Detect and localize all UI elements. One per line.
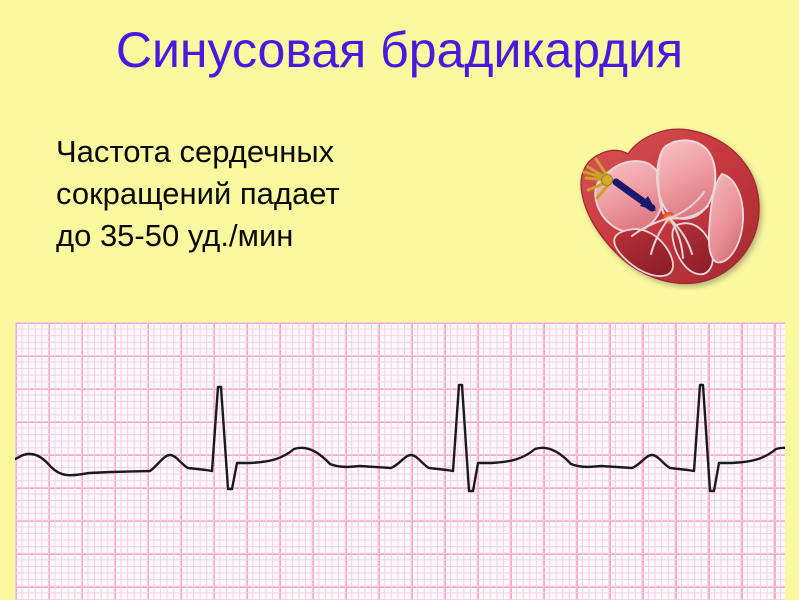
ecg-strip	[15, 322, 785, 600]
slide-canvas: Синусовая брадикардия Частота сердечных …	[0, 0, 799, 600]
body-line-2: сокращений падает	[56, 173, 486, 215]
ecg-waveform	[15, 322, 785, 600]
body-line-3: до 35-50 уд./мин	[56, 215, 486, 257]
body-text-block: Частота сердечных сокращений падает до 3…	[56, 131, 486, 257]
ecg-trace-line	[15, 385, 785, 491]
heart-cross-section-illustration	[556, 108, 771, 290]
body-line-1: Частота сердечных	[56, 131, 486, 173]
page-title: Синусовая брадикардия	[0, 22, 799, 78]
